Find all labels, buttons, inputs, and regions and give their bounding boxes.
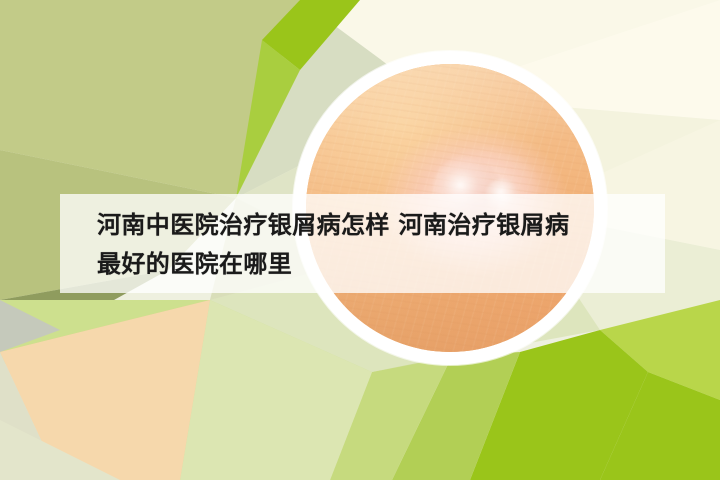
caption-title: 河南中医院治疗银屑病怎样 河南治疗银屑病 最好的医院在哪里	[97, 206, 657, 284]
banner-image: 河南中医院治疗银屑病怎样 河南治疗银屑病 最好的医院在哪里	[0, 0, 720, 480]
